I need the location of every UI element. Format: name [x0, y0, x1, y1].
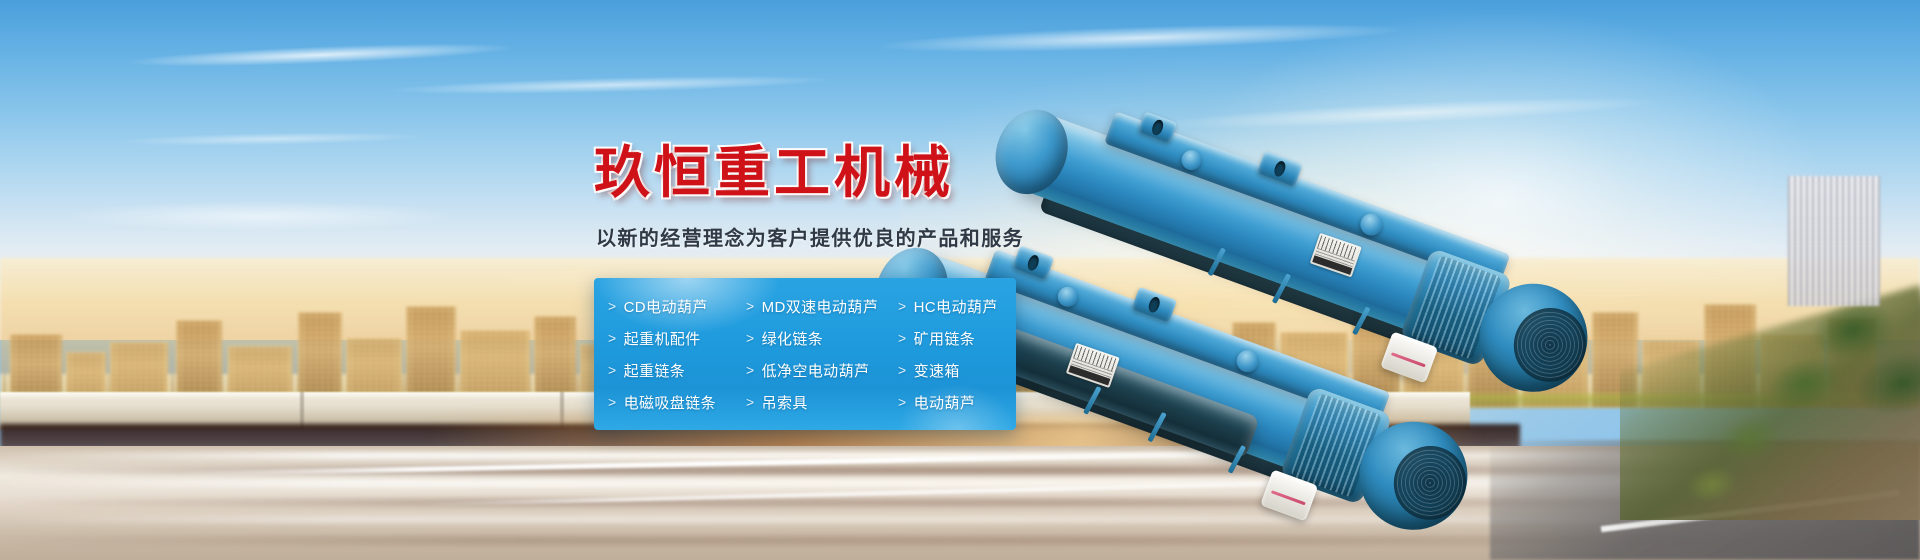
nav-item-slings[interactable]: > 吊索具 [746, 392, 898, 413]
nav-item-label: 吊索具 [762, 392, 808, 413]
hero-banner: 玖恒重工机械 以新的经营理念为客户提供优良的产品和服务 > CD电动葫芦 > M… [0, 0, 1920, 560]
chevron-right-icon: > [898, 299, 907, 313]
chevron-right-icon: > [608, 363, 617, 377]
nav-item-label: 绿化链条 [762, 328, 824, 349]
nav-item-electric-hoist[interactable]: > 电动葫芦 [898, 392, 1016, 413]
nav-item-label: 电磁吸盘链条 [624, 392, 716, 413]
chevron-right-icon: > [608, 395, 617, 409]
nav-item-crane-parts[interactable]: > 起重机配件 [608, 328, 746, 349]
chevron-right-icon: > [898, 331, 907, 345]
nav-item-mining-chain[interactable]: > 矿用链条 [898, 328, 1016, 349]
chevron-right-icon: > [746, 331, 755, 345]
product-category-grid: > CD电动葫芦 > MD双速电动葫芦 > HC电动葫芦 > 起重机配件 > 绿… [594, 278, 1016, 430]
nav-item-gearbox[interactable]: > 变速箱 [898, 360, 1016, 381]
nav-item-low-headroom-hoist[interactable]: > 低净空电动葫芦 [746, 360, 898, 381]
nav-item-label: 矿用链条 [914, 328, 976, 349]
nav-item-hc-hoist[interactable]: > HC电动葫芦 [898, 296, 1016, 317]
chevron-right-icon: > [746, 299, 755, 313]
nav-item-label: HC电动葫芦 [914, 296, 998, 317]
nav-item-label: CD电动葫芦 [624, 296, 708, 317]
chevron-right-icon: > [608, 299, 617, 313]
chevron-right-icon: > [746, 363, 755, 377]
nav-item-magnetic-chuck-chain[interactable]: > 电磁吸盘链条 [608, 392, 746, 413]
page-title: 玖恒重工机械 [594, 128, 954, 209]
nav-item-label: MD双速电动葫芦 [762, 296, 879, 317]
nav-item-label: 起重机配件 [624, 328, 701, 349]
product-category-panel: > CD电动葫芦 > MD双速电动葫芦 > HC电动葫芦 > 起重机配件 > 绿… [594, 278, 1016, 430]
nav-item-label: 低净空电动葫芦 [762, 360, 870, 381]
nav-item-label: 变速箱 [914, 360, 960, 381]
nav-item-lifting-chain[interactable]: > 起重链条 [608, 360, 746, 381]
nav-item-greening-chain[interactable]: > 绿化链条 [746, 328, 898, 349]
nav-item-md-dual-speed-hoist[interactable]: > MD双速电动葫芦 [746, 296, 898, 317]
chevron-right-icon: > [746, 395, 755, 409]
nav-item-cd-hoist[interactable]: > CD电动葫芦 [608, 296, 746, 317]
chevron-right-icon: > [898, 395, 907, 409]
electric-hoist-products [1020, 60, 1920, 480]
nav-item-label: 电动葫芦 [914, 392, 976, 413]
chevron-right-icon: > [608, 331, 617, 345]
page-subtitle: 以新的经营理念为客户提供优良的产品和服务 [596, 222, 1024, 251]
chevron-right-icon: > [898, 363, 907, 377]
nav-item-label: 起重链条 [624, 360, 686, 381]
